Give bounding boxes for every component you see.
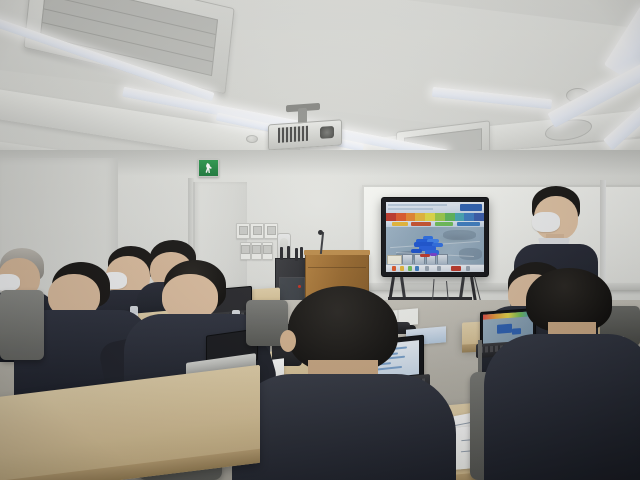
projector-icon: [268, 109, 340, 148]
legend-band: [435, 213, 445, 221]
light-switch-plate[interactable]: [251, 242, 262, 260]
light-switch-plate[interactable]: [250, 223, 264, 239]
display-screen[interactable]: [386, 202, 484, 272]
light-switch-plate[interactable]: [264, 223, 278, 239]
ceiling-speaker-icon: [246, 135, 258, 143]
wall-display[interactable]: [381, 197, 489, 277]
microphone-icon: [280, 247, 283, 260]
microphone-icon: [300, 247, 303, 260]
exit-sign-icon: [198, 159, 219, 177]
microphone-head-icon: [318, 230, 323, 235]
light-switch-plate[interactable]: [262, 242, 273, 260]
microphone-icon: [295, 248, 298, 261]
legend-band: [464, 213, 474, 221]
light-switch-plate[interactable]: [240, 242, 251, 260]
legend-band: [425, 213, 435, 221]
light-switch-plate[interactable]: [236, 223, 250, 239]
legend-band: [386, 213, 396, 221]
map-status-bar: [386, 264, 484, 272]
meeting-room-photo: [0, 0, 640, 480]
meeting-chair[interactable]: [0, 290, 44, 360]
attendee-front-right: [492, 268, 640, 480]
microphone-icon: [287, 246, 290, 259]
legend-band: [396, 213, 406, 221]
legend-band: [445, 213, 455, 221]
legend-band: [455, 213, 465, 221]
rainfall-intensity-color-scale: [386, 213, 484, 221]
legend-band: [406, 213, 416, 221]
precipitation-cluster: [411, 236, 450, 258]
aerial-terrain-basemap[interactable]: [386, 227, 484, 265]
face-mask-icon: [0, 274, 20, 291]
face-mask-icon: [532, 212, 560, 232]
legend-band: [415, 213, 425, 221]
attendee-front-center: [236, 286, 446, 480]
legend-band: [474, 213, 484, 221]
